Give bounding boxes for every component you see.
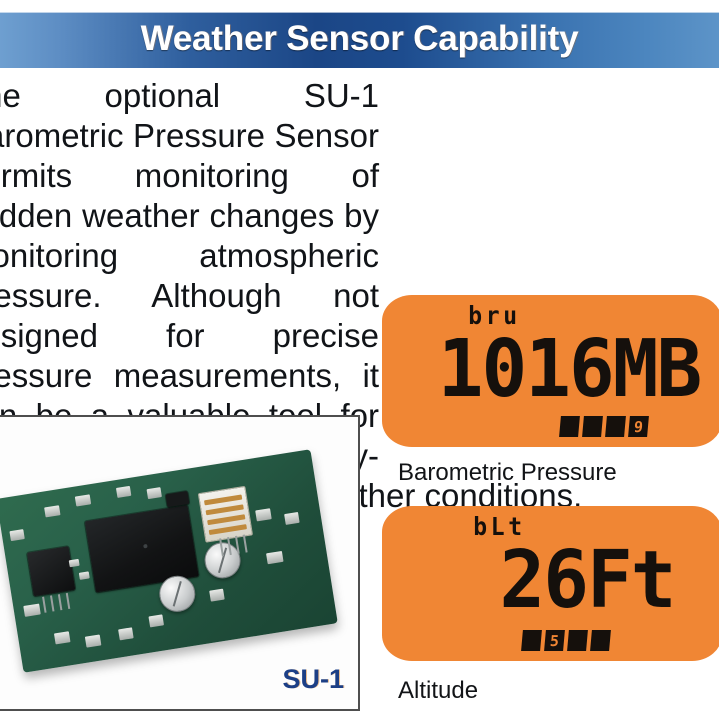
baro-bargraph: 9 <box>560 416 648 437</box>
altitude-caption: Altitude <box>398 677 478 705</box>
bargraph-segment <box>559 416 580 437</box>
bargraph-segment-digit <box>582 416 603 437</box>
bargraph-segment: 5 <box>544 630 565 651</box>
barometric-pressure-display: bru 1016MB 9 <box>382 295 719 447</box>
bargraph-segment-digit <box>605 416 626 437</box>
header-banner: Weather Sensor Capability <box>0 12 719 68</box>
bargraph-segment <box>567 630 588 651</box>
bargraph-segment <box>605 416 626 437</box>
bargraph-segment <box>582 416 603 437</box>
bargraph-segment <box>590 630 611 651</box>
ic-chip <box>27 546 75 596</box>
header-banner-inner: Weather Sensor Capability <box>0 12 719 68</box>
page-title: Weather Sensor Capability <box>141 19 579 59</box>
bargraph-segment: 9 <box>628 416 649 437</box>
bargraph-segment <box>521 630 542 651</box>
bargraph-segment-digit: 9 <box>628 416 649 437</box>
su1-label: SU-1 <box>282 664 344 695</box>
solder-pad <box>148 614 164 627</box>
alt-bargraph: 5 <box>522 630 610 651</box>
altitude-display: bLt 26Ft 5 <box>382 506 719 661</box>
solder-pad <box>255 508 272 521</box>
su1-photo: SU-1 <box>0 417 358 709</box>
solder-pad <box>209 589 225 602</box>
solder-pad <box>85 634 102 647</box>
bargraph-segment-digit <box>567 630 588 651</box>
solder-pad <box>54 631 71 644</box>
baro-reading: 1016MB <box>416 327 719 410</box>
solder-pad <box>118 627 134 640</box>
su1-photo-frame: SU-1 <box>0 415 360 711</box>
bargraph-segment-digit <box>559 416 580 437</box>
pcb-board-image <box>0 449 338 673</box>
bargraph-segment-digit: 5 <box>544 630 565 651</box>
bargraph-segment-digit <box>590 630 611 651</box>
barometric-pressure-caption: Barometric Pressure <box>398 459 617 487</box>
page-root: Weather Sensor Capability The optional S… <box>0 0 719 719</box>
bargraph-segment-digit <box>521 630 542 651</box>
alt-reading: 26Ft <box>452 538 719 621</box>
